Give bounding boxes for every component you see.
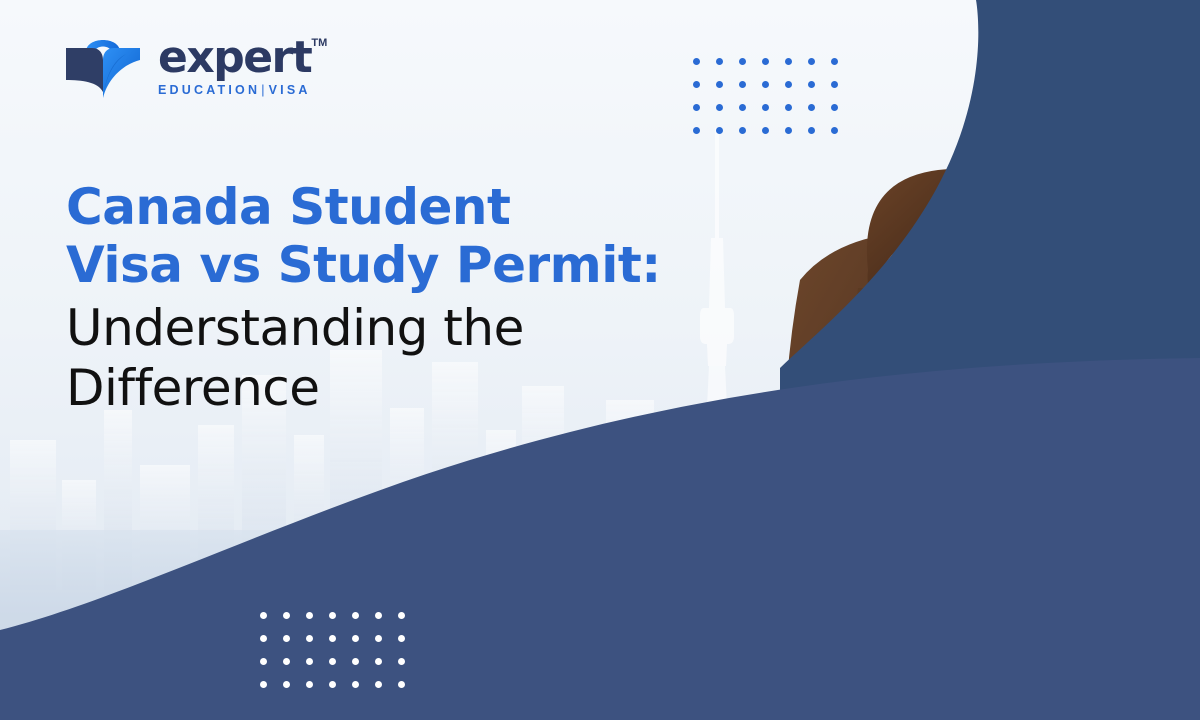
logo-wordmark: expert: [158, 37, 311, 79]
headline-line-3: Understanding the: [66, 298, 746, 358]
promotional-banner: expert TM EDUCATION|VISA Canada Student …: [0, 0, 1200, 720]
logo-trademark: TM: [311, 37, 327, 49]
dot-grid-bottom-left: [260, 612, 421, 704]
headline-line-2: Visa vs Study Permit:: [66, 236, 746, 294]
open-book-icon: [62, 30, 144, 102]
logo-tagline-visa: VISA: [269, 83, 311, 97]
brand-logo[interactable]: expert TM EDUCATION|VISA: [62, 30, 311, 102]
dot-grid-top-right: [693, 58, 854, 150]
logo-tagline-separator: |: [260, 83, 268, 97]
logo-tagline: EDUCATION|VISA: [158, 83, 311, 97]
headline-line-1: Canada Student: [66, 178, 746, 236]
logo-tagline-education: EDUCATION: [158, 83, 260, 97]
headline-block: Canada Student Visa vs Study Permit: Und…: [66, 178, 746, 418]
headline-line-4: Difference: [66, 358, 746, 418]
logo-text-block: expert TM EDUCATION|VISA: [158, 35, 311, 97]
